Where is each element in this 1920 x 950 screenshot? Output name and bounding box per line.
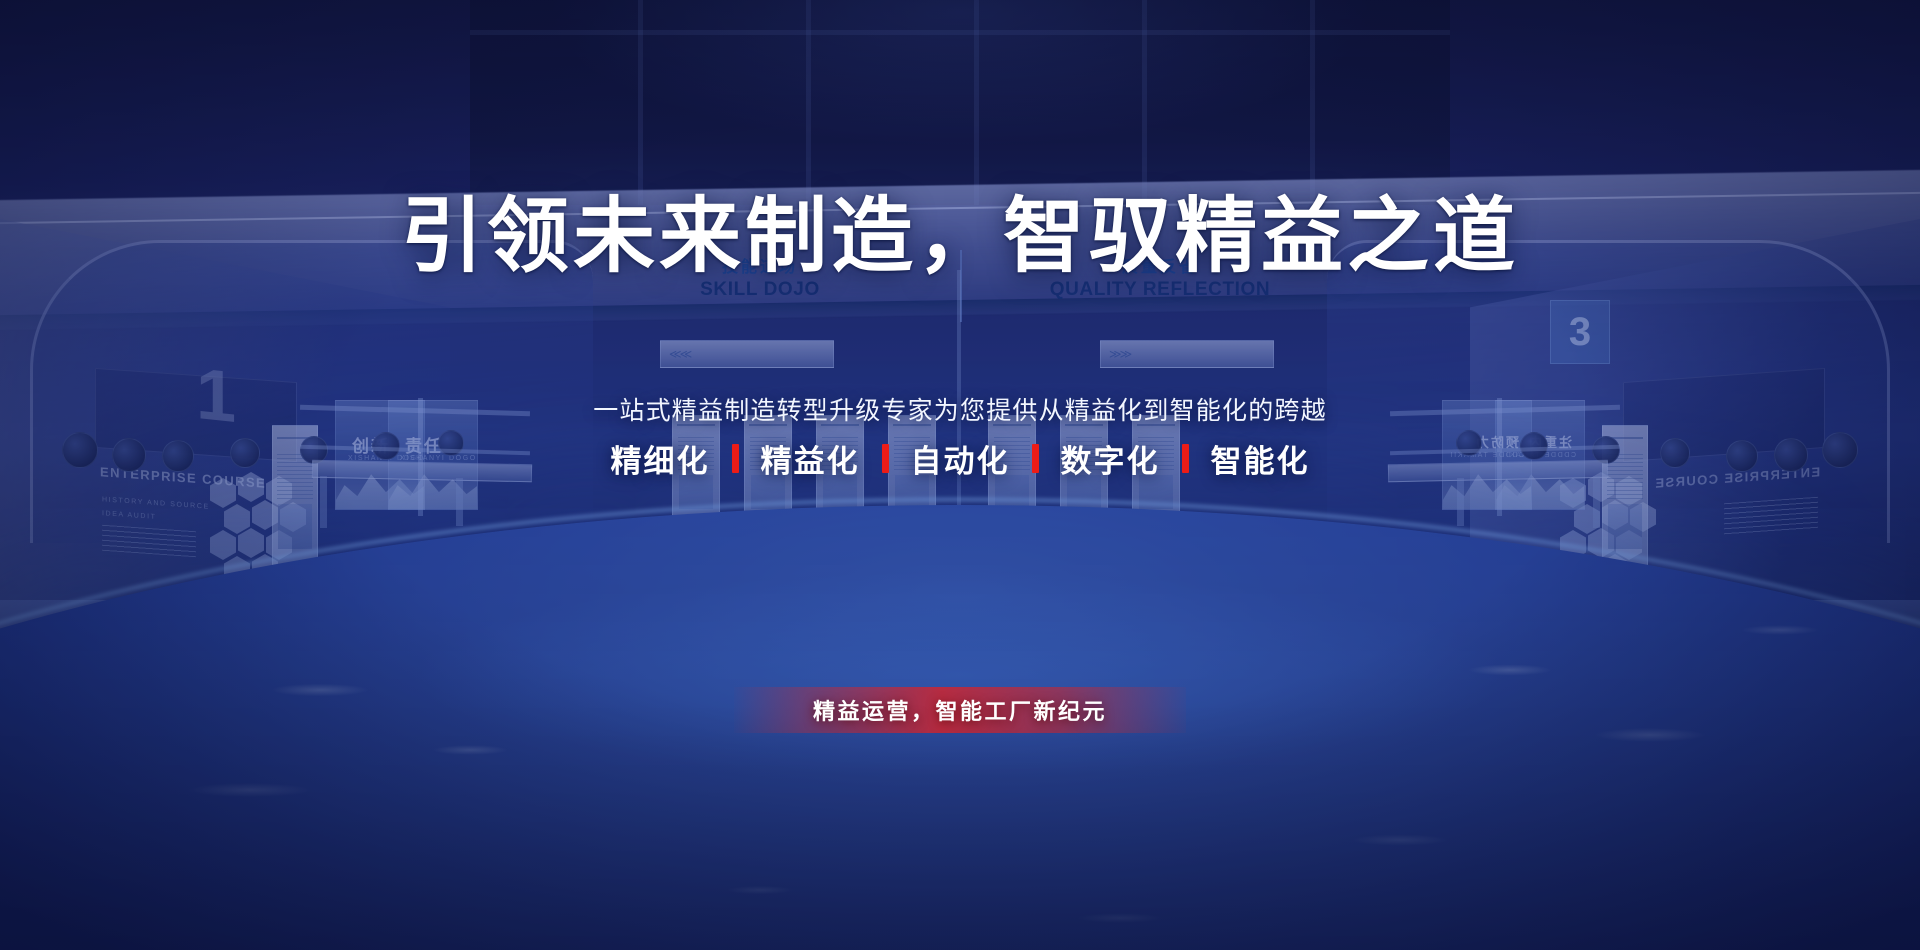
keyword-item: 精益化 bbox=[739, 436, 882, 481]
keyword-separator-bar bbox=[882, 444, 889, 473]
keyword-item: 精细化 bbox=[589, 436, 732, 481]
keyword-separator-bar bbox=[1032, 444, 1039, 473]
tagline-badge: 精益运营，智能工厂新纪元 bbox=[734, 687, 1186, 733]
banner-content: 引领未来制造，智驭精益之道 一站式精益制造转型升级专家为您提供从精益化到智能化的… bbox=[0, 0, 1920, 950]
tagline-badge-text: 精益运营，智能工厂新纪元 bbox=[813, 694, 1107, 726]
hero-banner: ENTERPRISE COURSE HISTORY AND SOURCE IDE… bbox=[0, 0, 1920, 950]
headline-title: 引领未来制造，智驭精益之道 bbox=[0, 189, 1920, 285]
keyword-item: 智能化 bbox=[1189, 436, 1332, 481]
keyword-list: 精细化 精益化 自动化 数字化 智能化 bbox=[0, 436, 1920, 481]
keyword-separator-bar bbox=[1182, 444, 1189, 473]
subheadline-text: 一站式精益制造转型升级专家为您提供从精益化到智能化的跨越 bbox=[0, 394, 1920, 428]
keyword-separator-bar bbox=[732, 444, 739, 473]
keyword-item: 自动化 bbox=[889, 436, 1032, 481]
keyword-item: 数字化 bbox=[1039, 436, 1182, 481]
